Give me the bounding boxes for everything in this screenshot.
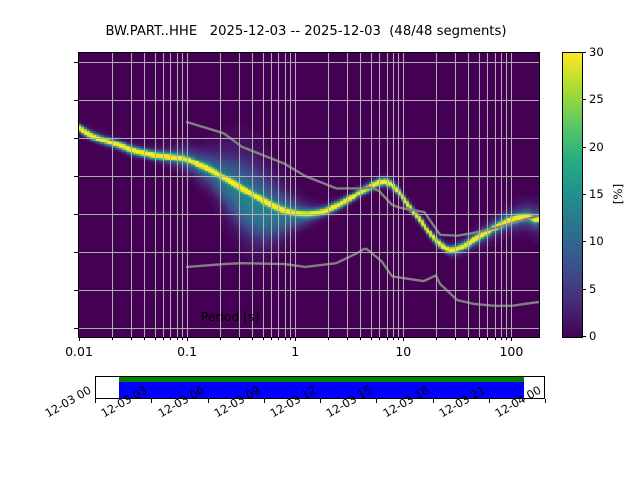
x-tick-minor [360,337,361,340]
x-tick-minor [501,337,502,340]
colorbar-tick [582,241,586,242]
gridline-vertical [290,53,291,337]
colorbar-tick-label: 25 [589,92,604,106]
timeline-tick [208,399,209,403]
x-tick-minor [290,337,291,340]
x-tick-minor [479,337,480,340]
timeline-tick [545,399,546,403]
gridline-horizontal [79,62,539,63]
timeline-tick [264,399,265,403]
gridline-horizontal [79,176,539,177]
gridline-vertical [263,53,264,337]
colorbar-tick-label: 30 [589,45,604,59]
x-tick-major [511,337,512,341]
x-tick-major [295,337,296,341]
gridline-vertical [144,53,145,337]
x-tick-minor [144,337,145,340]
gridline-vertical [112,53,113,337]
gridline-vertical [487,53,488,337]
x-tick-minor [371,337,372,340]
x-tick-label: 0.1 [177,344,197,359]
gridline-vertical [495,53,496,337]
colorbar-tick [582,147,586,148]
y-tick [74,138,79,139]
colorbar-tick-label: 5 [589,282,596,296]
gridline-vertical [278,53,279,337]
gridline-vertical [328,53,329,337]
x-tick-label: 10 [395,344,411,359]
x-tick-minor [379,337,380,340]
timeline-tick-label: 12-03 00 [43,384,93,421]
gridline-vertical [479,53,480,337]
x-tick-minor [263,337,264,340]
y-tick [74,290,79,291]
gridline-vertical [468,53,469,337]
colorbar-tick [582,289,586,290]
gridline-vertical [501,53,502,337]
x-tick-minor [220,337,221,340]
timeline-tick [95,399,96,403]
x-tick-label: 1 [291,344,299,359]
gridline-vertical [398,53,399,337]
timeline-tick [376,399,377,403]
gridline-vertical [455,53,456,337]
timeline-tick [489,399,490,403]
timeline-tick [433,399,434,403]
x-tick-minor [163,337,164,340]
y-tick [74,252,79,253]
gridline-vertical [220,53,221,337]
gridline-vertical [285,53,286,337]
y-tick [74,62,79,63]
x-tick-minor [278,337,279,340]
x-tick-major [403,337,404,341]
ppsd-figure: BW.PART..HHE 2025-12-03 -- 2025-12-03 (4… [0,0,640,480]
timeline-tick [151,399,152,403]
x-tick-minor [252,337,253,340]
ppsd-axes: −200−180−160−140−120−100−80−600.010.1110… [78,52,540,338]
x-tick-minor [155,337,156,340]
figure-title: BW.PART..HHE 2025-12-03 -- 2025-12-03 (4… [0,24,612,39]
colorbar-tick [582,336,586,337]
x-tick-minor [468,337,469,340]
x-tick-minor [112,337,113,340]
gridline-vertical [239,53,240,337]
timeline-tick [320,399,321,403]
gridline-vertical [436,53,437,337]
gridline-vertical [379,53,380,337]
x-tick-major [79,337,80,341]
gridline-vertical [131,53,132,337]
colorbar-tick-label: 0 [589,329,596,343]
x-tick-minor [271,337,272,340]
gridline-horizontal [79,252,539,253]
x-tick-minor [387,337,388,340]
y-tick [74,100,79,101]
gridline-vertical [177,53,178,337]
gridline-vertical [511,53,512,337]
x-tick-minor [393,337,394,340]
x-tick-minor [347,337,348,340]
x-tick-minor [398,337,399,340]
x-tick-minor [495,337,496,340]
x-axis-label: Period [s] [201,310,259,324]
ppsd-plot-area [79,53,539,337]
x-tick-minor [455,337,456,340]
colorbar-tick-label: 20 [589,140,604,154]
peterson-noise-models [79,53,539,337]
x-tick-minor [239,337,240,340]
x-tick-minor [487,337,488,340]
gridline-vertical [371,53,372,337]
x-tick-major [187,337,188,341]
gridline-vertical [393,53,394,337]
x-tick-minor [170,337,171,340]
colorbar-tick [582,194,586,195]
x-tick-label: 0.01 [65,344,93,359]
gridline-vertical [271,53,272,337]
x-tick-minor [506,337,507,340]
x-tick-label: 100 [499,344,523,359]
gridline-vertical [155,53,156,337]
colorbar [562,52,583,338]
gridline-vertical [403,53,404,337]
x-tick-minor [285,337,286,340]
gridline-vertical [252,53,253,337]
y-tick [74,328,79,329]
gridline-horizontal [79,214,539,215]
y-tick [74,214,79,215]
x-tick-minor [182,337,183,340]
gridline-vertical [187,53,188,337]
colorbar-tick [582,52,586,53]
gridline-horizontal [79,328,539,329]
gridline-horizontal [79,100,539,101]
gridline-vertical [170,53,171,337]
gridline-horizontal [79,290,539,291]
gridline-vertical [506,53,507,337]
colorbar-tick [582,99,586,100]
x-tick-minor [328,337,329,340]
gridline-vertical [387,53,388,337]
gridline-horizontal [79,138,539,139]
x-tick-minor [436,337,437,340]
colorbar-tick-label: 10 [589,234,604,248]
gridline-vertical [182,53,183,337]
gridline-vertical [163,53,164,337]
gridline-vertical [347,53,348,337]
colorbar-tick-label: 15 [589,187,604,201]
x-tick-minor [131,337,132,340]
gridline-vertical [360,53,361,337]
gridline-vertical [295,53,296,337]
y-tick [74,176,79,177]
colorbar-label: [%] [611,184,625,204]
x-tick-minor [177,337,178,340]
